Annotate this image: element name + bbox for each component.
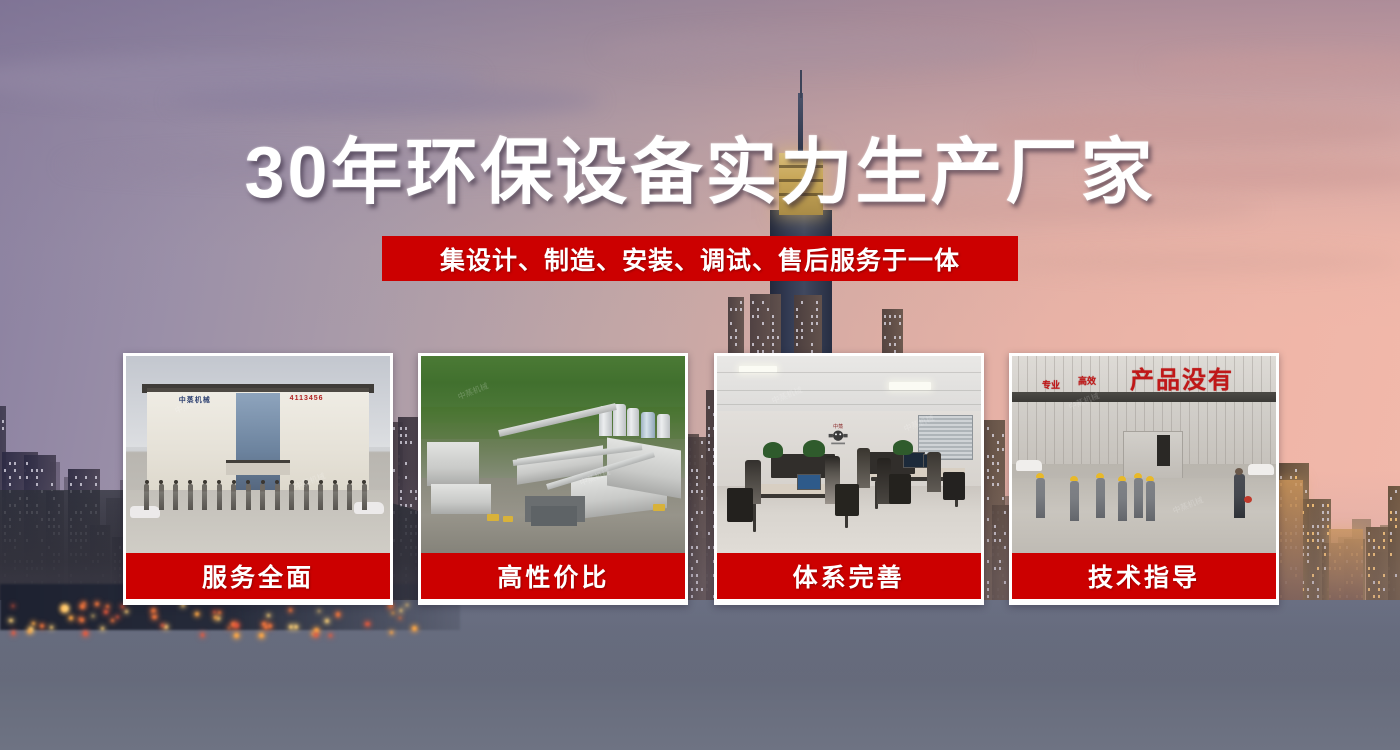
card-label: 技术指导 [1088,558,1200,594]
wall-panel-seam [1099,356,1100,464]
staff-head [232,480,236,484]
shore-light [32,622,35,625]
staff-figure [188,484,193,510]
shore-light [314,628,319,633]
wall-panel-seam [1081,356,1082,464]
shore-light [125,610,128,613]
card-photo-worker-briefing: 产品没有 专业 高效 中蒸机械 中蒸机械 [1012,356,1276,553]
promo-banner: 30年环保设备实力生产厂家 集设计、制造、安装、调试、售后服务于一体 中蒸机械 … [0,0,1400,750]
safety-helmet-icon [1036,473,1044,478]
staff-head [217,480,221,484]
wall-panel-seam [1063,356,1064,464]
worker-figure [1070,481,1079,521]
shore-light [289,625,293,629]
shore-light [234,623,238,627]
staff-figure [144,484,149,510]
shore-light [161,624,164,627]
card-caption: 高性价比 [421,553,685,599]
tower-spire-tip [800,70,802,98]
photo-phone-text: 4113456 [290,395,324,402]
page-title: 30年环保设备实力生产厂家 [0,133,1400,213]
shore-light [289,608,292,611]
red-helmet-icon [1244,496,1252,503]
wall-panel-seam [1054,356,1055,464]
wall-panel-seam [1270,356,1271,464]
card-photo-headquarters: 中蒸机械 4113456 中蒸机械 中蒸机械 [126,356,390,553]
shore-light [201,633,205,637]
feature-card[interactable]: 中蒸 [714,353,984,605]
wall-panel-seam [1018,356,1019,464]
staff-figure [333,484,338,510]
svg-text:中蒸: 中蒸 [833,422,843,430]
card-photo-office-interior: 中蒸 [717,356,981,553]
staff-figure [260,484,265,510]
worker-figure [1036,478,1045,518]
feature-card[interactable]: 产品没有 专业 高效 中蒸机械 中蒸机械 技术指导 [1009,353,1279,605]
staff-figure [304,484,309,510]
safety-helmet-icon [1134,473,1142,478]
shore-light [121,605,124,608]
shore-light [267,614,270,617]
manager-head [1235,468,1243,475]
wall-panel-seam [1072,356,1073,464]
staff-figure [173,484,178,510]
staff-head [203,480,207,484]
shore-light [111,619,114,622]
staff-figure [202,484,207,510]
warehouse-sign-text-2: 专业 [1042,378,1060,391]
staff-figure [246,484,251,510]
staff-head [362,480,366,484]
staff-figure [231,484,236,510]
card-photo-plant-aerial: 中蒸机械 中蒸机械 [421,356,685,553]
wall-panel-seam [1261,356,1262,464]
staff-figure [217,484,222,510]
card-label: 服务全面 [202,558,314,594]
staff-head [348,480,352,484]
photo-sign-text: 中蒸机械 [179,395,211,405]
staff-figure [275,484,280,510]
worker-figure [1118,481,1127,521]
shore-light [164,625,168,629]
cloud [170,84,600,118]
staff-head [319,480,323,484]
wall-panel-seam [1252,356,1253,464]
manager-figure [1234,474,1245,518]
staff-head [188,480,192,484]
card-caption: 体系完善 [717,553,981,599]
shore-light [213,611,215,613]
safety-helmet-icon [1070,476,1078,481]
shore-light [234,633,239,638]
staff-head [261,480,265,484]
warehouse-sign-text-3: 高效 [1078,374,1096,387]
cloud [600,30,1020,70]
staff-figure [318,484,323,510]
shore-light [63,606,67,610]
shore-light [390,631,393,634]
feature-card[interactable]: 中蒸机械 4113456 中蒸机械 中蒸机械 服务全面 [123,353,393,605]
wall-panel-seam [1036,356,1037,464]
shore-light [294,625,298,629]
shore-light [50,626,52,628]
staff-figure [289,484,294,510]
worker-figure [1096,478,1105,518]
wall-panel-seam [1027,356,1028,464]
shore-light [28,630,31,633]
safety-helmet-icon [1118,476,1126,481]
staff-head [246,480,250,484]
warehouse-sign-text: 产品没有 [1130,360,1234,395]
building [1388,486,1400,610]
staff-head [304,480,308,484]
wall-panel-seam [1045,356,1046,464]
wall-panel-seam [1243,356,1244,464]
subtitle-text: 集设计、制造、安装、调试、售后服务于一体 [440,241,960,277]
staff-head [275,480,279,484]
staff-figure [362,484,367,510]
shore-light [268,624,272,628]
shore-light [69,616,73,620]
shore-light [336,612,341,617]
staff-head [174,480,178,484]
feature-card-list: 中蒸机械 4113456 中蒸机械 中蒸机械 服务全面 [123,353,1279,605]
shore-light [218,611,221,614]
card-label: 体系完善 [793,558,905,594]
feature-card[interactable]: 中蒸机械 中蒸机械 高性价比 [418,353,688,605]
wall-panel-seam [1234,356,1235,464]
safety-helmet-icon [1096,473,1104,478]
wall-panel-seam [1090,356,1091,464]
staff-figure [159,484,164,510]
worker-figure [1134,478,1143,518]
worker-figure [1146,481,1155,521]
card-label: 高性价比 [497,558,609,594]
wall-panel-seam [1108,356,1109,464]
card-caption: 技术指导 [1012,553,1276,599]
shore-light [412,626,417,631]
wall-panel-seam [1117,356,1118,464]
building-illuminated [1329,529,1363,610]
staff-head [290,480,294,484]
shore-light [106,605,109,608]
safety-helmet-icon [1146,476,1154,481]
shore-light [101,627,104,630]
card-caption: 服务全面 [126,553,390,599]
subtitle-banner: 集设计、制造、安装、调试、售后服务于一体 [382,236,1018,281]
staff-head [145,480,149,484]
staff-figure [347,484,352,510]
shore-light [152,615,157,620]
staff-head [159,480,163,484]
shore-light [12,605,14,607]
staff-head [333,480,337,484]
